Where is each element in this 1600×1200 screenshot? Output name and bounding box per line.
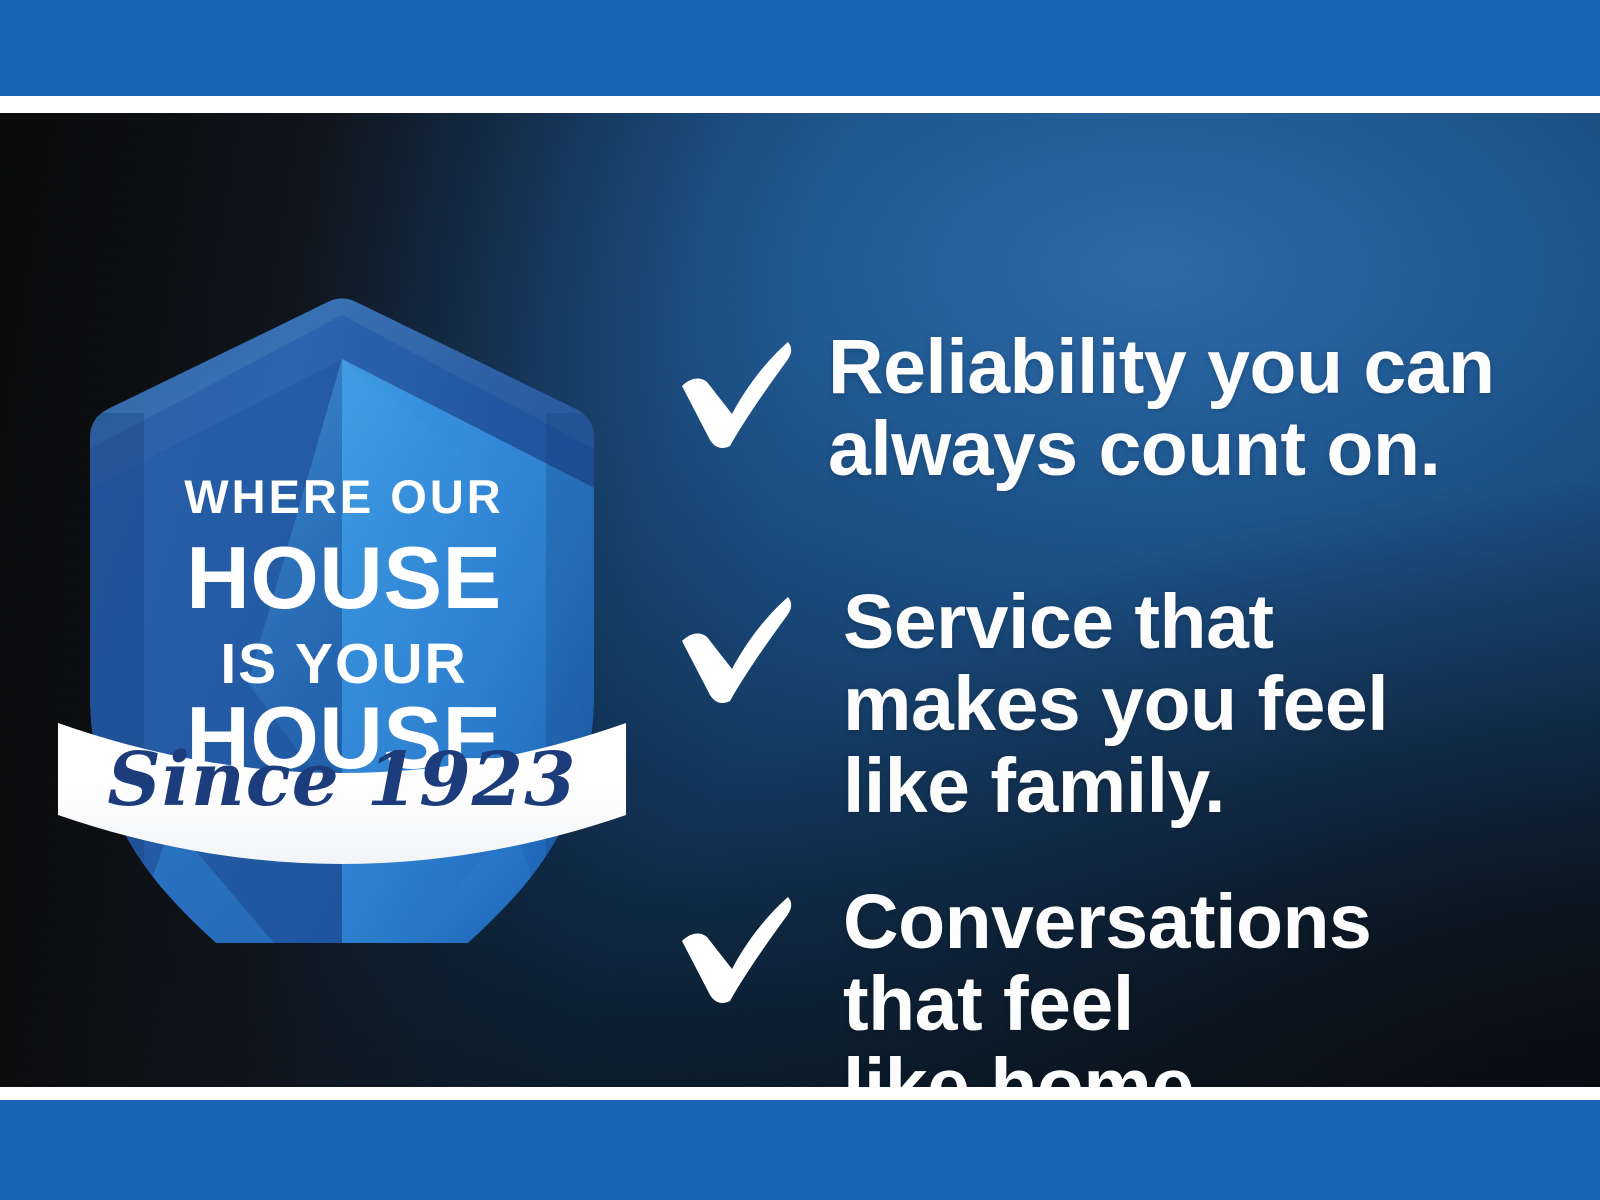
benefit-item: Service that makes you feel like family. (660, 581, 1388, 827)
benefit-item: Reliability you can always count on. (660, 326, 1495, 490)
shield-line-1: WHERE OUR (184, 470, 503, 523)
shield-line-3: IS YOUR (220, 632, 467, 696)
checkmark-icon (660, 889, 795, 1007)
promo-graphic: WHERE OUR HOUSE IS YOUR HOUSE Since 1923 (0, 0, 1600, 1200)
checkmark-icon (660, 589, 795, 707)
main-canvas: WHERE OUR HOUSE IS YOUR HOUSE Since 1923 (0, 113, 1600, 1087)
brand-shield-logo: WHERE OUR HOUSE IS YOUR HOUSE Since 1923 (52, 263, 632, 943)
banner-since-text: Since 1923 (107, 737, 576, 823)
benefit-text: Service that makes you feel like family. (843, 581, 1388, 827)
benefit-text: Reliability you can always count on. (828, 326, 1495, 490)
benefit-item: Conversations that feel like home. (660, 881, 1371, 1087)
shield-line-2: HOUSE (186, 528, 501, 627)
checkmark-icon (660, 334, 795, 452)
benefits-list: Reliability you can always count on. Ser… (660, 226, 1560, 1087)
top-brand-bar (0, 0, 1600, 96)
bottom-brand-bar (0, 1100, 1600, 1200)
benefit-text: Conversations that feel like home. (843, 881, 1371, 1087)
